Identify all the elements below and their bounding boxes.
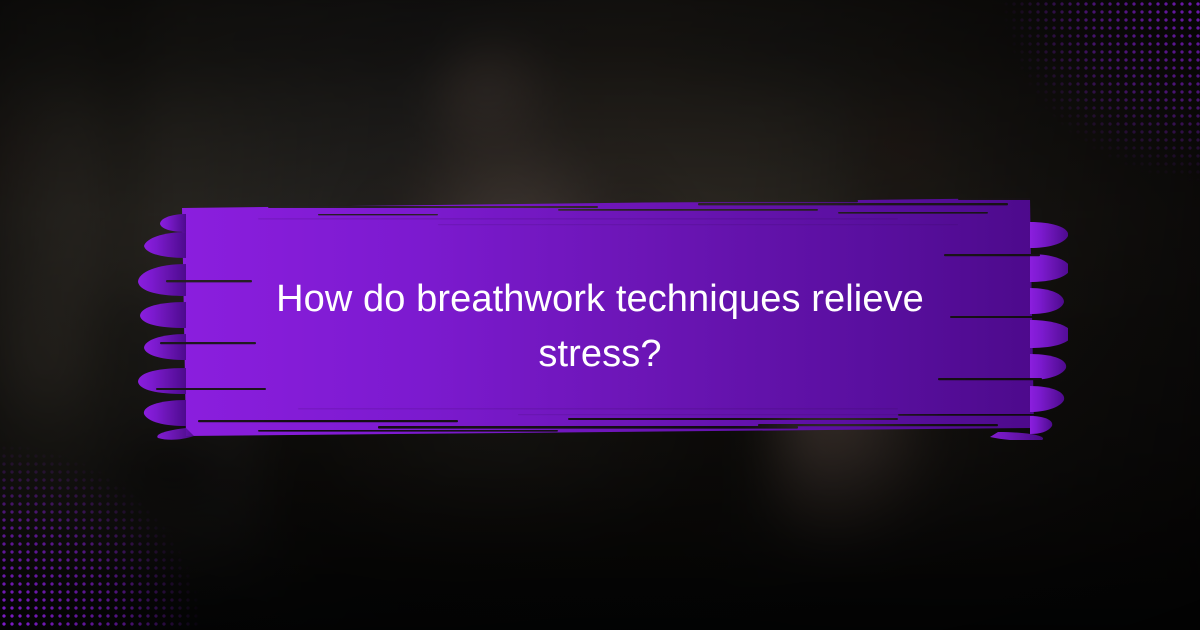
question-card: How do breathwork techniques relieve str… xyxy=(0,0,1200,630)
card-headline: How do breathwork techniques relieve str… xyxy=(210,272,990,382)
